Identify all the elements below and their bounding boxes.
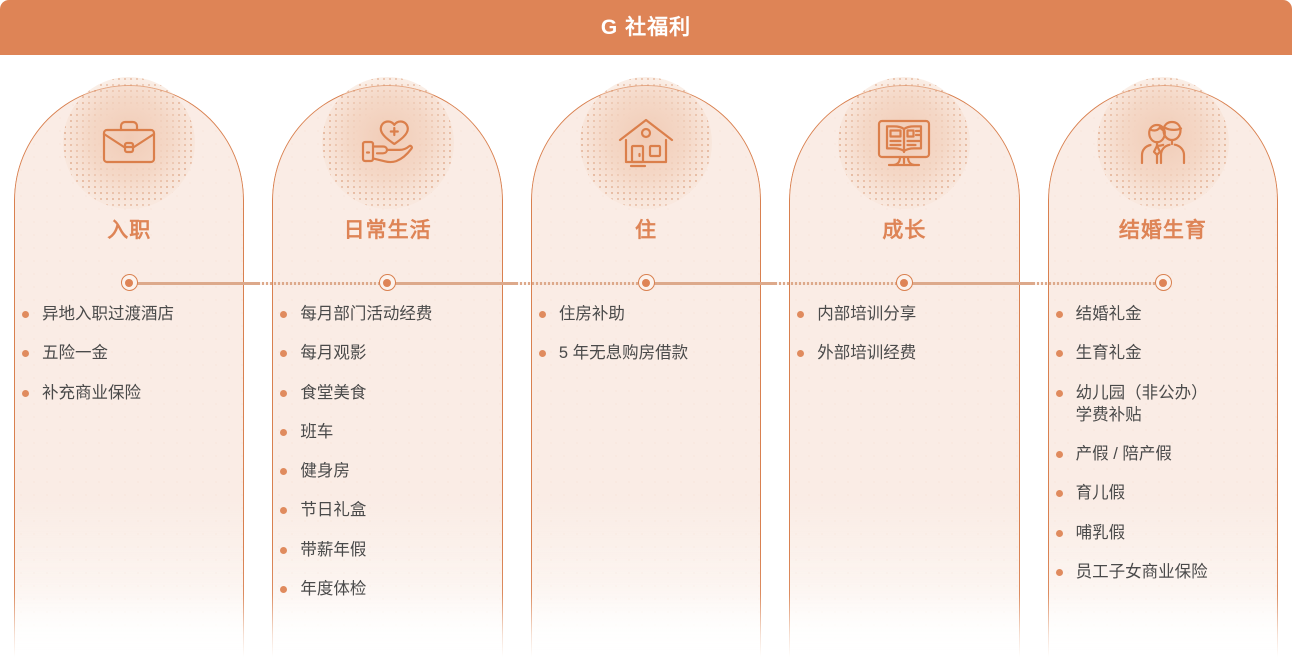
list-item: 每月部门活动经费 — [280, 303, 508, 325]
bullet-icon — [797, 350, 804, 357]
list-item-label: 五险一金 — [42, 342, 250, 364]
list-item-label: 5 年无息购房借款 — [559, 342, 767, 364]
bullet-icon — [1056, 569, 1063, 576]
list-item-label: 住房补助 — [559, 303, 767, 325]
benefit-columns: 入职 异地入职过渡酒店 五险一金 补充商业保险 — [0, 55, 1292, 657]
column-title: 住 — [517, 220, 775, 241]
bullet-icon — [1056, 311, 1063, 318]
column-title: 成长 — [775, 220, 1033, 241]
house-icon — [614, 111, 678, 175]
list-item-label: 食堂美食 — [300, 382, 508, 404]
list-item: 哺乳假 — [1056, 522, 1284, 544]
bullet-icon — [1056, 350, 1063, 357]
bullet-icon — [797, 311, 804, 318]
icon-container — [580, 77, 712, 209]
icon-container — [63, 77, 195, 209]
bullet-icon — [539, 350, 546, 357]
list-item: 住房补助 — [539, 303, 767, 325]
list-item-label: 幼儿园（非公办） 学费补贴 — [1076, 382, 1284, 427]
list-item: 5 年无息购房借款 — [539, 342, 767, 364]
list-item: 健身房 — [280, 460, 508, 482]
list-item: 带薪年假 — [280, 539, 508, 561]
list-item: 幼儿园（非公办） 学费补贴 — [1056, 382, 1284, 427]
benefit-list: 每月部门活动经费 每月观影 食堂美食 班车 健身房 节日礼盒 — [280, 303, 508, 617]
bullet-icon — [539, 311, 546, 318]
list-item-label: 节日礼盒 — [300, 499, 508, 521]
benefit-column-marriage-parenting[interactable]: 结婚生育 结婚礼金 生育礼金 幼儿园（非公办） 学费补贴 产假 / 陪产假 — [1034, 55, 1292, 657]
icon-container — [1097, 77, 1229, 209]
list-item-label: 补充商业保险 — [42, 382, 250, 404]
monitor-book-icon — [872, 111, 936, 175]
benefit-list: 内部培训分享 外部培训经费 — [797, 303, 1025, 382]
couple-icon — [1131, 111, 1195, 175]
briefcase-icon — [97, 111, 161, 175]
column-title: 结婚生育 — [1034, 220, 1292, 241]
bullet-icon — [280, 390, 287, 397]
list-item-label: 班车 — [300, 421, 508, 443]
bullet-icon — [22, 350, 29, 357]
list-item: 异地入职过渡酒店 — [22, 303, 250, 325]
bullet-icon — [280, 429, 287, 436]
bullet-icon — [1056, 390, 1063, 397]
list-item: 补充商业保险 — [22, 382, 250, 404]
list-item-label: 每月部门活动经费 — [300, 303, 508, 325]
list-item: 食堂美食 — [280, 382, 508, 404]
heart-in-hand-icon — [356, 111, 420, 175]
list-item-label: 产假 / 陪产假 — [1076, 443, 1284, 465]
list-item-label: 内部培训分享 — [817, 303, 1025, 325]
bullet-icon — [280, 311, 287, 318]
list-item-label: 健身房 — [300, 460, 508, 482]
list-item: 生育礼金 — [1056, 342, 1284, 364]
bullet-icon — [280, 547, 287, 554]
list-item: 产假 / 陪产假 — [1056, 443, 1284, 465]
list-item: 节日礼盒 — [280, 499, 508, 521]
bullet-icon — [280, 468, 287, 475]
bullet-icon — [22, 390, 29, 397]
list-item: 五险一金 — [22, 342, 250, 364]
list-item: 班车 — [280, 421, 508, 443]
header-bar: G 社福利 — [0, 0, 1292, 55]
list-item: 每月观影 — [280, 342, 508, 364]
icon-container — [322, 77, 454, 209]
benefit-column-daily-life[interactable]: 日常生活 每月部门活动经费 每月观影 食堂美食 班车 健身房 — [258, 55, 516, 657]
bullet-icon — [1056, 490, 1063, 497]
benefit-column-onboarding[interactable]: 入职 异地入职过渡酒店 五险一金 补充商业保险 — [0, 55, 258, 657]
list-item: 外部培训经费 — [797, 342, 1025, 364]
bullet-icon — [1056, 530, 1063, 537]
list-item-line2: 学费补贴 — [1076, 404, 1284, 426]
list-item-label: 哺乳假 — [1076, 522, 1284, 544]
benefit-list: 结婚礼金 生育礼金 幼儿园（非公办） 学费补贴 产假 / 陪产假 育儿假 — [1056, 303, 1284, 600]
list-item-line1: 幼儿园（非公办） — [1076, 382, 1284, 404]
list-item-label: 异地入职过渡酒店 — [42, 303, 250, 325]
list-item: 育儿假 — [1056, 482, 1284, 504]
list-item: 结婚礼金 — [1056, 303, 1284, 325]
list-item: 员工子女商业保险 — [1056, 561, 1284, 583]
icon-container — [838, 77, 970, 209]
list-item-label: 员工子女商业保险 — [1076, 561, 1284, 583]
list-item-label: 生育礼金 — [1076, 342, 1284, 364]
list-item-label: 年度体检 — [300, 578, 508, 600]
list-item-label: 每月观影 — [300, 342, 508, 364]
list-item-label: 结婚礼金 — [1076, 303, 1284, 325]
page-title: G 社福利 — [601, 17, 691, 38]
benefit-list: 住房补助 5 年无息购房借款 — [539, 303, 767, 382]
benefit-column-housing[interactable]: 住 住房补助 5 年无息购房借款 — [517, 55, 775, 657]
list-item-label: 带薪年假 — [300, 539, 508, 561]
list-item-label: 外部培训经费 — [817, 342, 1025, 364]
list-item-label: 育儿假 — [1076, 482, 1284, 504]
column-title: 日常生活 — [258, 220, 516, 241]
column-title: 入职 — [0, 220, 258, 241]
benefit-list: 异地入职过渡酒店 五险一金 补充商业保险 — [22, 303, 250, 421]
list-item: 年度体检 — [280, 578, 508, 600]
bullet-icon — [280, 507, 287, 514]
bullet-icon — [280, 350, 287, 357]
bullet-icon — [22, 311, 29, 318]
list-item: 内部培训分享 — [797, 303, 1025, 325]
benefit-column-growth[interactable]: 成长 内部培训分享 外部培训经费 — [775, 55, 1033, 657]
bullet-icon — [280, 586, 287, 593]
bullet-icon — [1056, 451, 1063, 458]
